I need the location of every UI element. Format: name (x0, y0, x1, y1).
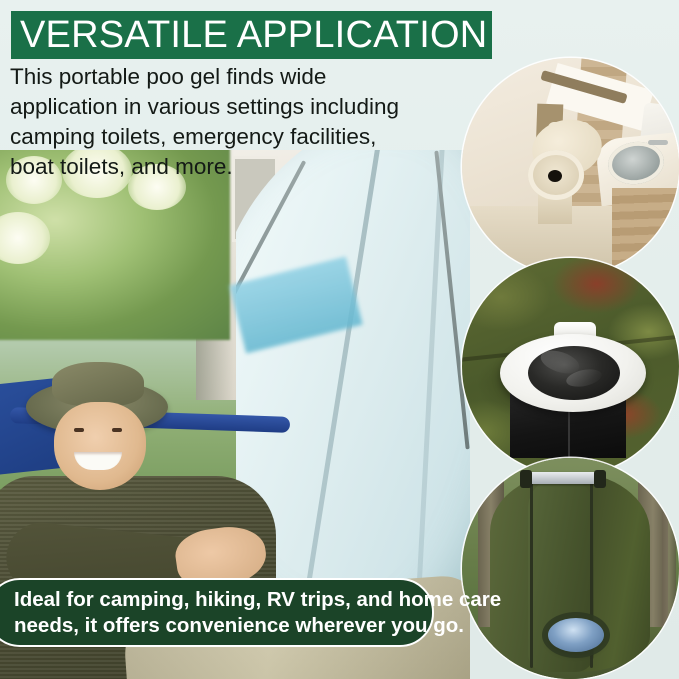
blue-wash-basin (548, 618, 604, 652)
bottom-callout-line-1: Ideal for camping, hiking, RV trips, and… (14, 587, 501, 613)
description-line-4: boat toilets, and more. (10, 152, 462, 182)
face (54, 402, 146, 490)
description-text: This portable poo gel finds wide applica… (10, 62, 462, 182)
circle-photo-rv-bathroom (462, 58, 679, 275)
toilet-drain-hole (548, 170, 562, 182)
circle-photo-privacy-tent (462, 458, 679, 679)
description-line-2: application in various settings includin… (10, 92, 462, 122)
tent-clip (520, 470, 532, 488)
eye (74, 428, 84, 432)
faucet (648, 140, 668, 145)
infographic-canvas: VERSATILE APPLICATION This portable poo … (0, 0, 679, 679)
circle-photo-portable-toilet (462, 258, 679, 475)
bottom-callout-text: Ideal for camping, hiking, RV trips, and… (14, 587, 501, 639)
eye (112, 428, 122, 432)
bottom-callout-line-2: needs, it offers convenience wherever yo… (14, 613, 501, 639)
tent-top-frame (524, 472, 600, 484)
bottom-callout-banner: Ideal for camping, hiking, RV trips, and… (0, 578, 434, 647)
description-line-1: This portable poo gel finds wide (10, 62, 462, 92)
tent-clip (594, 470, 606, 488)
title-banner: VERSATILE APPLICATION (11, 11, 492, 59)
tent-zipper (530, 480, 533, 668)
page-title: VERSATILE APPLICATION (20, 15, 487, 55)
description-line-3: camping toilets, emergency facilities, (10, 122, 462, 152)
bucket-hat-crown (52, 362, 144, 406)
